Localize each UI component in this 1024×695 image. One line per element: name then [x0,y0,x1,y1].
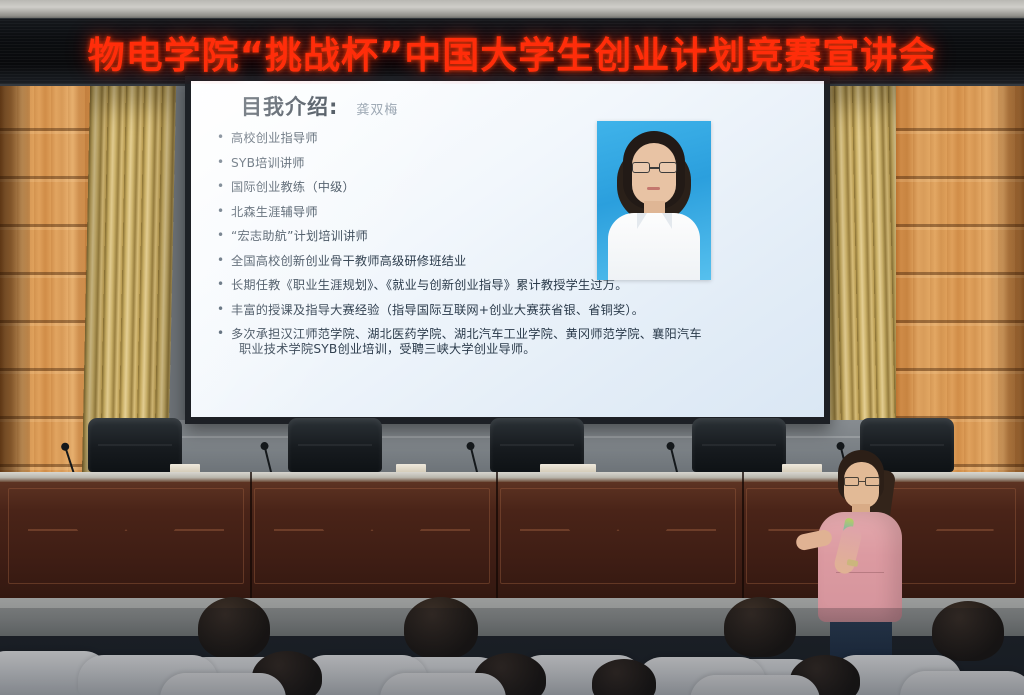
desk-seam [742,472,744,600]
stage-chair [288,418,382,472]
slide-header: 目我介绍: 龚双梅 [241,91,398,121]
audience-head [932,601,1004,661]
photo-collar-left [637,213,647,229]
bullet-item: 国际创业教练（中级） [215,180,815,195]
bullet-item: 丰富的授课及指导大赛经验（指导国际互联网+创业大赛获省银、省铜奖）。 [215,303,775,318]
desk-seam [250,472,252,600]
projection-screen: 目我介绍: 龚双梅 高校创业指导师 SYB培训讲师 国际创业教练（中级） 北森生… [185,76,830,424]
slide-presenter-name: 龚双梅 [356,99,398,118]
slide-title: 目我介绍: [241,91,338,121]
presenter-id-photo [597,121,711,280]
presentation-slide: 目我介绍: 龚双梅 高校创业指导师 SYB培训讲师 国际创业教练（中级） 北森生… [191,81,824,417]
presenter-blouse [818,512,902,622]
audience-seat [900,671,1024,695]
photo-face [632,143,676,205]
stage-chair [692,418,786,472]
lecture-hall-photo: 物电学院“挑战杯”中国大学生创业计划竞赛宣讲会 目我介绍: 龚双梅 高校创业指导… [0,0,1024,695]
audience-seat [160,673,286,695]
glasses-icon [632,162,677,173]
slide-bullet-list: 高校创业指导师 SYB培训讲师 国际创业教练（中级） 北森生涯辅导师 “宏志助航… [215,131,815,367]
audience-rows [0,608,1024,695]
desk-panel [254,488,490,584]
photo-collar-right [662,213,672,229]
bullet-item: 长期任教《职业生涯规划》、《就业与创新创业指导》累计教授学生过万。 [215,278,775,293]
photo-mouth [647,187,660,190]
glasses-icon [844,477,880,486]
bullet-line-2: 职业技术学院SYB创业培训，受聘三峡大学创业导师。 [231,342,775,357]
desk-panel [8,488,244,584]
bullet-item: “宏志助航”计划培训讲师 [215,229,815,244]
audience-seat [690,675,820,695]
desk-panel [500,488,736,584]
led-banner: 物电学院“挑战杯”中国大学生创业计划竞赛宣讲会 [0,18,1024,86]
led-banner-text: 物电学院“挑战杯”中国大学生创业计划竞赛宣讲会 [88,25,937,79]
bullet-item: SYB培训讲师 [215,156,815,171]
desk-seam [496,472,498,600]
bullet-item: 北森生涯辅导师 [215,205,815,220]
bullet-line-1: 多次承担汉江师范学院、湖北医药学院、湖北汽车工业学院、黄冈师范学院、襄阳汽车 [231,327,702,341]
stage-chair [88,418,182,472]
audience-head [404,597,478,659]
audience-seat [380,673,506,695]
photo-shirt [608,213,700,280]
ceiling-strip [0,0,1024,20]
bullet-item: 高校创业指导师 [215,131,815,146]
audience-head [198,597,270,659]
audience-head [724,597,796,657]
bullet-item: 全国高校创新创业骨干教师高级研修班结业 [215,254,815,269]
bullet-item-multiline: 多次承担汉江师范学院、湖北医药学院、湖北汽车工业学院、黄冈师范学院、襄阳汽车 职… [215,327,775,357]
